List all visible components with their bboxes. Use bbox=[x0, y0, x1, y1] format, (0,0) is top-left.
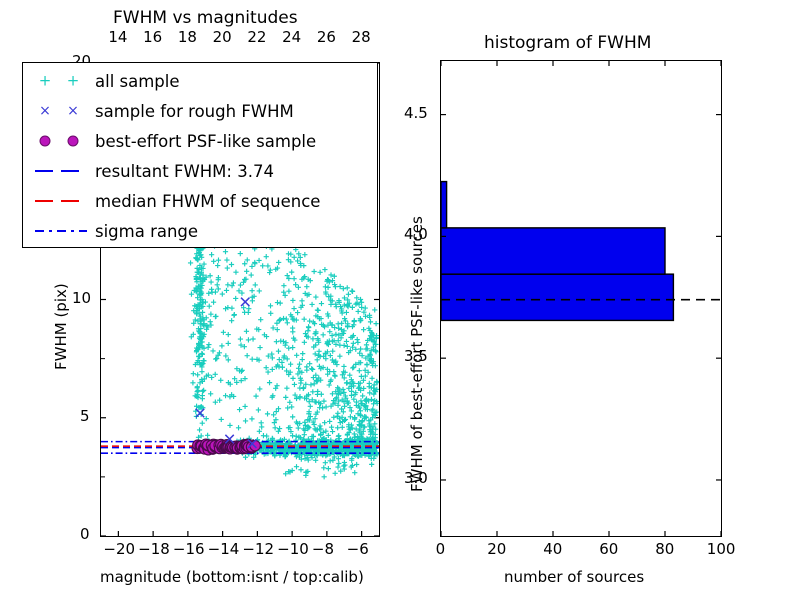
legend-dashdot-line bbox=[29, 216, 95, 246]
top-tick-1: 16 bbox=[143, 28, 162, 46]
legend-item-label: resultant FWHM: 3.74 bbox=[95, 162, 274, 181]
left-panel-xlabel: magnitude (bottom:isnt / top:calib) bbox=[100, 568, 364, 586]
top-tick-3: 20 bbox=[213, 28, 232, 46]
legend-item-label: sigma range bbox=[95, 222, 198, 241]
left-panel-ylabel: FWHM (pix) bbox=[52, 283, 70, 370]
bottom-tick-2: −16 bbox=[173, 540, 205, 558]
top-tick-2: 18 bbox=[178, 28, 197, 46]
right-panel-xlabel: number of sources bbox=[504, 568, 644, 586]
bottom-tick-7: −6 bbox=[347, 540, 369, 558]
legend-dashed-line bbox=[29, 186, 95, 216]
legend-item-5[interactable]: sigma range bbox=[29, 216, 377, 246]
right-x-tick-3: 60 bbox=[599, 540, 618, 558]
legend-item-label: median FHWM of sequence bbox=[95, 192, 320, 211]
right-y-tick-3: 4.5 bbox=[404, 104, 428, 122]
legend-item-label: sample for rough FWHM bbox=[95, 102, 294, 121]
bottom-tick-5: −10 bbox=[277, 540, 309, 558]
legend-item-0[interactable]: ++all sample bbox=[29, 66, 377, 96]
bottom-tick-3: −14 bbox=[208, 540, 240, 558]
left-panel-title: FWHM vs magnitudes bbox=[113, 8, 298, 28]
legend-item-3[interactable]: resultant FWHM: 3.74 bbox=[29, 156, 377, 186]
right-x-tick-1: 20 bbox=[487, 540, 506, 558]
cross-marker: × bbox=[39, 104, 51, 118]
right-x-tick-5: 100 bbox=[707, 540, 736, 558]
left-y-tick-0: 0 bbox=[80, 525, 90, 543]
top-tick-0: 14 bbox=[108, 28, 127, 46]
legend-item-4[interactable]: median FHWM of sequence bbox=[29, 186, 377, 216]
legend-plus-marker: ++ bbox=[29, 66, 95, 96]
dashdot-line bbox=[35, 230, 87, 232]
dashed-line bbox=[35, 200, 87, 202]
right-plot-area bbox=[440, 60, 722, 537]
top-tick-6: 26 bbox=[317, 28, 336, 46]
right-panel-ylabel: FWHM of best-effort PSF-like sources bbox=[408, 216, 426, 492]
left-y-tick-1: 5 bbox=[80, 407, 90, 425]
right-x-tick-4: 80 bbox=[655, 540, 674, 558]
legend-item-2[interactable]: best-effort PSF-like sample bbox=[29, 126, 377, 156]
histogram-canvas bbox=[441, 61, 721, 536]
right-x-tick-0: 0 bbox=[436, 540, 446, 558]
cross-marker: × bbox=[67, 104, 79, 118]
top-tick-4: 22 bbox=[247, 28, 266, 46]
left-y-tick-2: 10 bbox=[72, 289, 91, 307]
legend-item-label: all sample bbox=[95, 72, 180, 91]
figure-canvas: FWHM vs magnitudes 1416182022242628 0510… bbox=[0, 0, 800, 600]
legend-item-1[interactable]: ××sample for rough FWHM bbox=[29, 96, 377, 126]
bottom-tick-6: −8 bbox=[312, 540, 334, 558]
circle-marker bbox=[68, 136, 79, 147]
bottom-tick-1: −18 bbox=[138, 540, 170, 558]
legend-cross-marker: ×× bbox=[29, 96, 95, 126]
right-x-tick-2: 40 bbox=[543, 540, 562, 558]
bottom-tick-4: −12 bbox=[242, 540, 274, 558]
right-panel-title: histogram of FWHM bbox=[484, 33, 651, 53]
plus-marker: + bbox=[67, 74, 80, 89]
legend-item-label: best-effort PSF-like sample bbox=[95, 132, 316, 151]
legend-dashed-line bbox=[29, 156, 95, 186]
plus-marker: + bbox=[39, 74, 52, 89]
legend-circle-marker bbox=[29, 126, 95, 156]
dashed-line bbox=[35, 170, 87, 172]
top-tick-5: 24 bbox=[282, 28, 301, 46]
circle-marker bbox=[40, 136, 51, 147]
top-tick-7: 28 bbox=[352, 28, 371, 46]
bottom-tick-0: −20 bbox=[103, 540, 135, 558]
legend[interactable]: ++all sample××sample for rough FWHMbest-… bbox=[22, 62, 378, 248]
